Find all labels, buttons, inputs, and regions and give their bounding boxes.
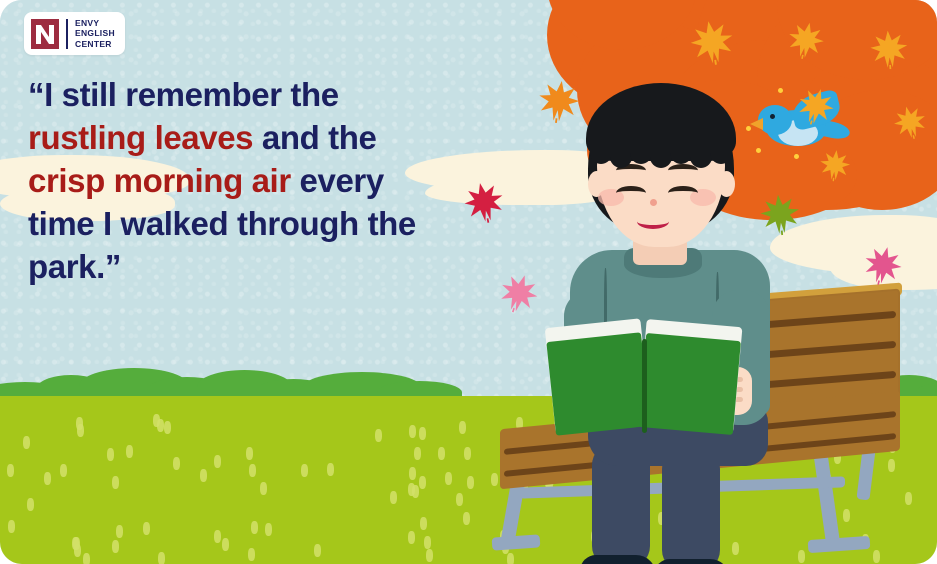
eye-right-closed xyxy=(668,186,698,200)
bird-head xyxy=(758,105,792,135)
grass-speck xyxy=(116,525,123,538)
book-spine xyxy=(642,339,647,433)
bird-beak xyxy=(750,118,763,130)
grass-speck xyxy=(251,521,258,534)
leaf-gold-canopy-3 xyxy=(867,27,912,72)
sparkle-icon xyxy=(794,154,799,159)
grass-speck xyxy=(408,483,415,496)
grass-speck xyxy=(467,476,474,489)
grass-speck xyxy=(798,550,805,563)
leaf-olive-mid xyxy=(756,190,804,238)
grass-speck xyxy=(153,414,160,427)
grass-speck xyxy=(23,436,30,449)
logo-divider xyxy=(66,19,68,49)
grass-speck xyxy=(222,538,229,551)
grass-speck xyxy=(83,553,90,564)
grass-speck xyxy=(327,463,334,476)
grass-speck xyxy=(426,549,433,562)
leaf-gold-canopy-1 xyxy=(684,14,740,70)
grass-speck xyxy=(158,552,165,564)
grass-speck xyxy=(260,482,267,495)
bird-eye xyxy=(770,114,775,119)
grass-speck xyxy=(107,448,114,461)
letter-n-icon xyxy=(31,19,59,49)
grass-speck xyxy=(456,493,463,506)
quote-text: “I still remember the rustling leaves an… xyxy=(28,74,428,288)
grass-speck xyxy=(409,425,416,438)
leaf-gold-canopy-6 xyxy=(816,146,853,183)
grass-speck xyxy=(214,455,221,468)
grass-speck xyxy=(7,464,14,477)
grass-speck xyxy=(265,523,272,536)
grass-speck xyxy=(424,536,431,549)
hair-bang xyxy=(630,142,652,164)
logo-line-1: ENVY xyxy=(75,18,115,28)
brand-logo[interactable]: ENVY ENGLISH CENTER xyxy=(24,12,125,55)
grass-speck xyxy=(414,447,421,460)
grass-speck xyxy=(438,447,445,460)
grass-speck xyxy=(463,512,470,525)
leaf-gold-canopy-2 xyxy=(782,16,829,63)
grass-speck xyxy=(44,472,51,485)
hair-bang xyxy=(610,146,632,168)
grass-speck xyxy=(72,537,79,550)
leaf-crimson-left xyxy=(458,176,510,228)
quote-highlight: crisp morning air xyxy=(28,162,291,199)
grass-speck xyxy=(507,553,514,564)
grass-speck xyxy=(173,457,180,470)
hair-bang xyxy=(710,142,732,164)
mouth-smile xyxy=(637,214,669,229)
sparkle-icon xyxy=(746,126,751,131)
grass-speck xyxy=(408,531,415,544)
grass-speck xyxy=(419,476,426,489)
grass-speck xyxy=(60,464,67,477)
grass-speck xyxy=(164,421,171,434)
grass-speck xyxy=(126,445,133,458)
grass-speck xyxy=(420,517,427,530)
grass-speck xyxy=(8,520,15,533)
hair-bang xyxy=(650,146,672,168)
bench-foot-left xyxy=(492,534,541,550)
nose xyxy=(650,199,657,206)
grass-speck xyxy=(112,476,119,489)
quote-plain: “I still remember the xyxy=(28,76,339,113)
grass-speck xyxy=(301,464,308,477)
grass-speck xyxy=(459,421,466,434)
grass-speck xyxy=(419,427,426,440)
grass-speck xyxy=(246,447,253,460)
leaf-orange-top-left xyxy=(533,75,585,127)
grass-speck xyxy=(112,540,119,553)
open-book xyxy=(550,323,740,433)
book-cover-right xyxy=(638,333,741,435)
grass-speck xyxy=(464,447,471,460)
logo-line-3: CENTER xyxy=(75,39,115,49)
hair-bang xyxy=(670,142,692,164)
grass-speck xyxy=(314,544,321,557)
quote-highlight: rustling leaves xyxy=(28,119,253,156)
bench-leg-front-right xyxy=(813,450,841,551)
grass-speck xyxy=(27,498,34,511)
eye-left-closed xyxy=(616,186,646,200)
grass-speck xyxy=(390,491,397,504)
book-cover-left xyxy=(546,332,650,435)
grass-speck xyxy=(249,464,256,477)
grass-speck xyxy=(248,548,255,561)
sparkle-icon xyxy=(756,148,761,153)
shoe-right xyxy=(654,559,730,564)
grass-speck xyxy=(873,550,880,563)
grass-speck xyxy=(143,522,150,535)
grass-speck xyxy=(375,429,382,442)
grass-speck xyxy=(445,472,452,485)
logo-line-2: ENGLISH xyxy=(75,28,115,38)
sparkle-icon xyxy=(778,88,783,93)
shoe-left xyxy=(580,555,656,564)
grass-speck xyxy=(77,424,84,437)
grass-speck xyxy=(409,467,416,480)
eyebrow-right xyxy=(668,164,698,177)
quote-card: “I still remember the rustling leaves an… xyxy=(0,0,937,564)
hair-bang xyxy=(590,142,612,164)
hair-bang xyxy=(690,146,712,168)
logo-wordmark: ENVY ENGLISH CENTER xyxy=(75,18,115,49)
logo-monogram-icon xyxy=(31,19,59,49)
grass-speck xyxy=(200,469,207,482)
grass-speck xyxy=(214,530,221,543)
quote-plain: and the xyxy=(253,119,376,156)
